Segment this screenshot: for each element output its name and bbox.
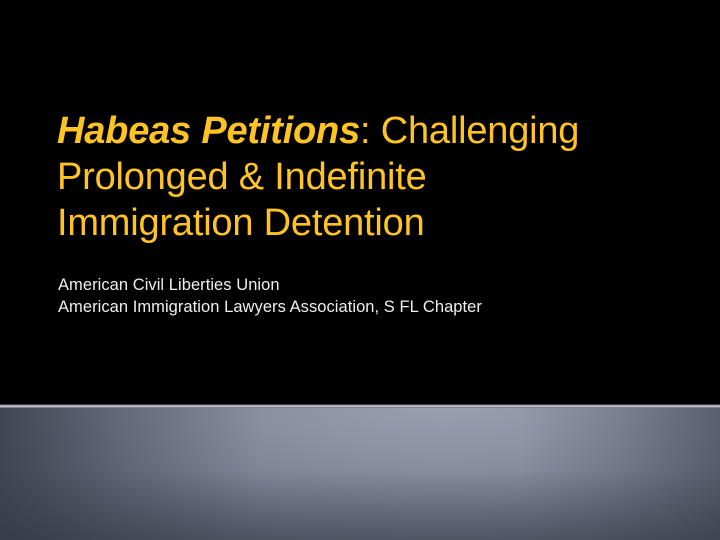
title-line-3: Immigration Detention xyxy=(57,200,677,246)
title-emphasis: Habeas Petitions xyxy=(57,110,360,152)
subtitle-line-2: American Immigration Lawyers Association… xyxy=(58,296,678,318)
title-line-1-rest: : Challenging xyxy=(360,110,579,152)
subtitle-line-1: American Civil Liberties Union xyxy=(58,274,678,296)
title-slide: Habeas Petitions: Challenging Prolonged … xyxy=(0,0,720,540)
slide-title: Habeas Petitions: Challenging Prolonged … xyxy=(57,108,677,246)
slide-subtitle: American Civil Liberties Union American … xyxy=(58,274,678,318)
title-line-2: Prolonged & Indefinite xyxy=(57,154,677,200)
title-line-1: Habeas Petitions: Challenging xyxy=(57,108,677,154)
slide-lower-gradient-band xyxy=(0,408,720,540)
